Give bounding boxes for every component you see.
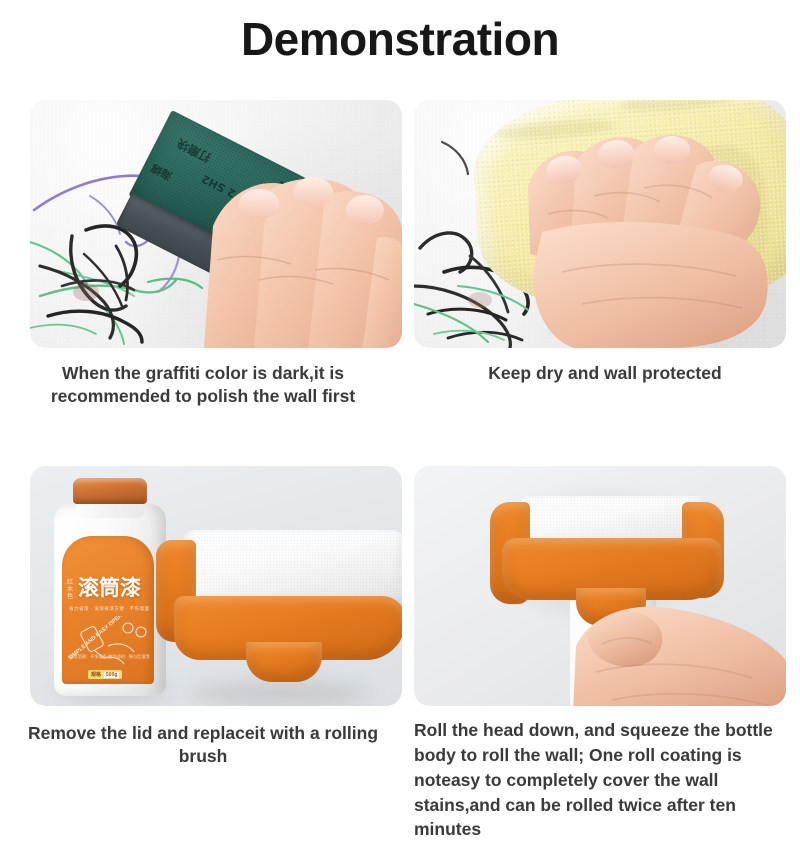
label-weight-badge: 规格 500g bbox=[88, 670, 122, 679]
label-footer-cn: 适用范围：干净墙面 使用说明：摇匀后滚涂 bbox=[69, 654, 150, 660]
panel-4-photo bbox=[414, 466, 786, 706]
label-subtitle-cn: 省力省漆 · 滚涂省漆方便 · 不伤墙面 · 不易掉粉 bbox=[69, 606, 154, 612]
badge-label: 规格 bbox=[91, 671, 101, 678]
panel-4-caption: Roll the head down, and squeeze the bott… bbox=[414, 718, 798, 842]
panel-3-caption: Remove the lid and replaceit with a roll… bbox=[18, 722, 388, 769]
panel-3: 红木色 滚筒漆 省力省漆 · 滚涂省漆方便 · 不伤墙面 · 不易掉粉 SIMP bbox=[0, 436, 400, 800]
panel-1-caption: When the graffiti color is dark,it is re… bbox=[18, 362, 388, 409]
roller-frame-stem bbox=[246, 642, 322, 682]
hand bbox=[197, 130, 402, 348]
hand bbox=[572, 586, 786, 706]
panel-3-photo: 红木色 滚筒漆 省力省漆 · 滚涂省漆方便 · 不伤墙面 · 不易掉粉 SIMP bbox=[30, 466, 402, 706]
roller-brush-head bbox=[156, 530, 402, 706]
label-corner-text: 红木色 bbox=[67, 580, 78, 601]
bottle-cap bbox=[73, 478, 147, 504]
panel-4: Roll the head down, and squeeze the bott… bbox=[400, 436, 800, 800]
panel-1: QBTAO2C 2 SH2 打磨块 海绵 砂纸 bbox=[0, 96, 400, 436]
label-title-cn: 滚筒漆 bbox=[78, 578, 141, 599]
panel-2-caption: Keep dry and wall protected bbox=[414, 362, 796, 385]
panel-2: Keep dry and wall protected bbox=[400, 96, 800, 436]
demonstration-grid: QBTAO2C 2 SH2 打磨块 海绵 砂纸 bbox=[0, 96, 800, 800]
page-title: Demonstration bbox=[0, 0, 800, 65]
bottle-label: 红木色 滚筒漆 省力省漆 · 滚涂省漆方便 · 不伤墙面 · 不易掉粉 SIMP bbox=[62, 536, 154, 684]
panel-1-photo: QBTAO2C 2 SH2 打磨块 海绵 砂纸 bbox=[30, 100, 402, 348]
panel-2-photo bbox=[414, 100, 786, 348]
badge-value: 500g bbox=[104, 672, 119, 678]
paint-bottle: 红木色 滚筒漆 省力省漆 · 滚涂省漆方便 · 不伤墙面 · 不易掉粉 SIMP bbox=[54, 478, 166, 696]
hand bbox=[522, 122, 772, 348]
